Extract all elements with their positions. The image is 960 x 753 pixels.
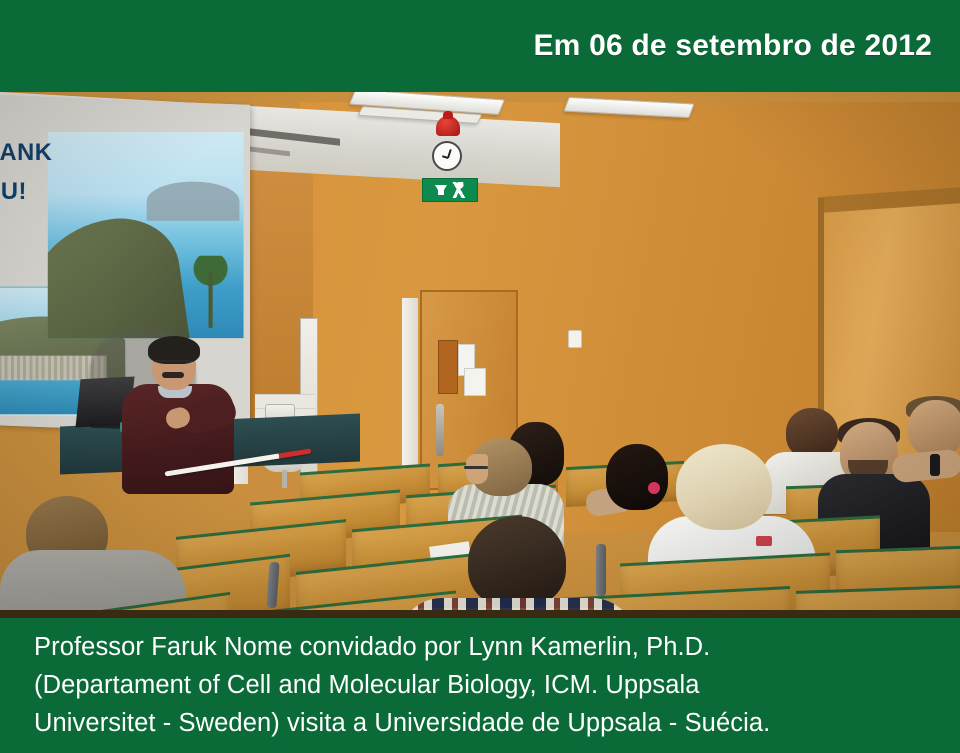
slide-thank-you-text: HANK OU! [0, 132, 114, 245]
photo-caption-divider [0, 610, 960, 618]
presenter-figure [118, 340, 244, 490]
emergency-exit-sign-icon [422, 178, 478, 202]
wristwatch-icon [930, 454, 940, 476]
door-handle [436, 404, 444, 456]
audience-person-head [786, 408, 838, 458]
poster-card: Em 06 de setembro de 2012 [0, 0, 960, 753]
audience-person-head [606, 444, 668, 510]
shirt-badge [756, 536, 772, 546]
door-panel [438, 340, 458, 394]
presenter-moustache [162, 372, 184, 378]
alarm-bell-icon [436, 116, 460, 136]
caption-line-1: Professor Faruk Nome convidado por Lynn … [34, 628, 934, 666]
audience-person-head [676, 444, 772, 530]
eyeglasses-icon [464, 466, 488, 469]
audience-person-face [466, 454, 488, 484]
header-date-title: Em 06 de setembro de 2012 [533, 29, 932, 63]
audience-person-head [908, 400, 960, 456]
slide-text-line-1: HANK [0, 132, 114, 171]
running-person-icon [451, 182, 465, 198]
audience-person-plaid-shirt [398, 598, 636, 610]
hair-flower [648, 482, 660, 494]
audience-person-head [468, 516, 566, 608]
lecture-hall-photo: HANK OU! [0, 92, 960, 610]
wall-clock-icon [432, 141, 462, 171]
header-band: Em 06 de setembro de 2012 [0, 0, 960, 92]
down-arrow-icon [435, 185, 447, 195]
door-frame [402, 298, 418, 488]
caption-line-3: Universitet - Sweden) visita a Universid… [34, 704, 934, 742]
slide-text-line-2: OU! [0, 171, 114, 210]
sink-pipe [282, 470, 287, 488]
seat-frame-leg [596, 544, 606, 596]
presenter-glasses-icon [154, 360, 194, 366]
caption-band: Professor Faruk Nome convidado por Lynn … [0, 618, 960, 753]
light-switch [568, 330, 582, 348]
caption-line-2: (Departament of Cell and Molecular Biolo… [34, 666, 934, 704]
door-notice [464, 368, 486, 396]
